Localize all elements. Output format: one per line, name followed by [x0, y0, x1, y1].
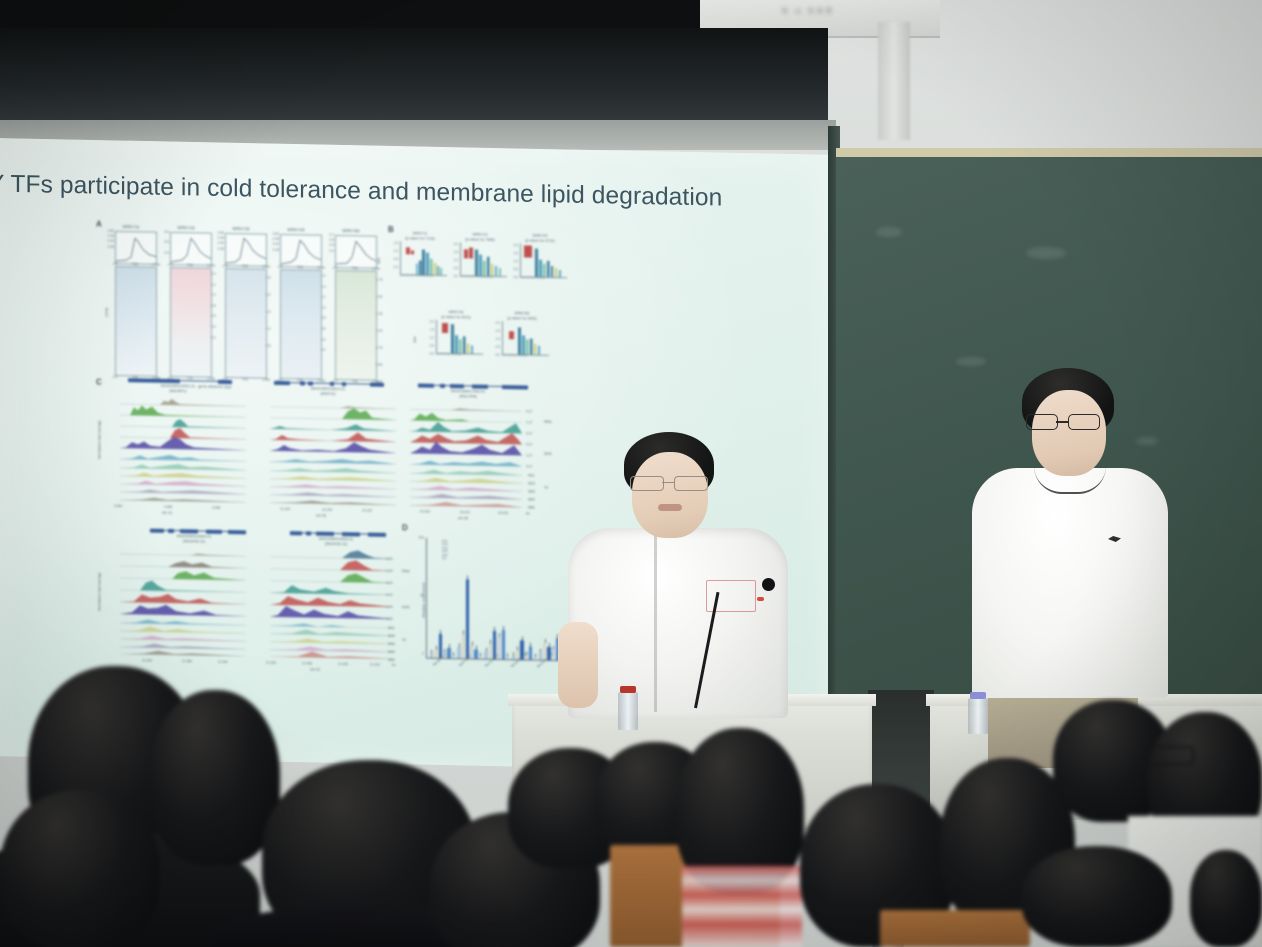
locus-4-xtick-3: 21.610: [370, 663, 380, 667]
track-label-tf-2: W33: [528, 490, 535, 494]
bar-W60-MsGDSL12-P4: [529, 646, 532, 659]
locus-3-xtick-0: 21.540: [142, 658, 152, 662]
errorbar: [517, 647, 518, 651]
presenter-glasses: [1026, 414, 1100, 428]
audience-glasses: [1148, 746, 1194, 765]
locus-0-xtick-2: 4.668: [212, 506, 220, 510]
panel-a-heatmap-1: [170, 267, 212, 378]
locus-0-chrom: chr 10: [162, 511, 172, 515]
motif-xticks-0: 1 2 3 4 5 6 7 8 9 10 11 12: [400, 274, 433, 278]
panel-a: WRKY11 0.500.450.400.35 -2.0TSS2.0kb -2.…: [106, 224, 378, 379]
audience-head-3: [0, 790, 160, 947]
errorbar: [476, 646, 477, 650]
motif-logo-1: WRKY19(p-value=1e-7684) 2.01.51.00.50.0 …: [452, 232, 508, 283]
motif-plot-4: [502, 321, 549, 356]
panel-b: WRKY11(p-value=1e-7133) 1.51.00.50.0 1 2…: [388, 229, 574, 384]
speaker-shirt-placket: [654, 532, 657, 712]
room-sign: 松 山 实验室: [748, 6, 868, 28]
microphone-led: [757, 597, 764, 601]
motif-title-1: WRKY19(p-value=1e-7684): [452, 232, 508, 242]
track-label-dhs-1: 1 LT: [526, 453, 532, 457]
errorbar: [490, 640, 491, 644]
errorbar: [453, 652, 454, 656]
errorbar: [486, 648, 487, 652]
person-second-presenter: [960, 368, 1180, 768]
bar-IgG-MsCBF1-P1: [452, 656, 455, 658]
motif-logo-2: WRKY33(p-value=1e-9722) 2.01.51.00.50.0 …: [512, 233, 568, 284]
bar-W33-MsPLD-P2: [466, 580, 469, 659]
locus-3-xtick-2: 21.561: [218, 660, 228, 664]
locus-3-xtick-1: 21.560: [182, 659, 192, 663]
motif-yticks-1: 2.01.51.00.50.0: [446, 240, 458, 281]
track-label-dhs-2: 3 LT: [526, 464, 532, 468]
bar-W11-MsCBF1-P1: [430, 653, 433, 657]
motif-yticks-4: 2.01.51.00.50.0: [488, 319, 500, 360]
panel-a-yticks-1: 0.60.50.4: [153, 230, 169, 256]
errorbar: [459, 643, 460, 647]
bar-W11-MsLOX6-P3: [484, 652, 487, 659]
bar-W19-MsCBF1-P1: [434, 650, 437, 658]
ceiling-shadow-strip: [0, 0, 700, 28]
panel-a-column-4: WRKY60 0.70.60.50.4 -2.0TSS2.0kb 1.751.5…: [326, 228, 376, 229]
errorbar: [540, 649, 541, 653]
speaker-head: [632, 452, 708, 538]
bar-W60-MsCBF1-P1: [447, 648, 450, 658]
panel-a-profile-0: [115, 231, 157, 265]
errorbar: [440, 630, 441, 634]
panel-c-locus-3: MsG0280012600.01(MsGDSL12): [108, 528, 248, 671]
person-speaker-at-podium: [558, 432, 808, 712]
panel-b-ylabel-2: Bits: [413, 336, 417, 342]
track-area-0: [120, 394, 246, 504]
errorbar: [545, 638, 546, 642]
errorbar: [530, 642, 531, 646]
panel-c-locus-1: MsG0180013610.01(MsPLD): [258, 381, 398, 520]
motif-plot-2: [520, 243, 567, 278]
track-label-b-tf-3: W40: [388, 650, 395, 654]
errorbar: [472, 641, 473, 645]
track-label-b-rna-1: 1 LT: [386, 569, 392, 573]
errorbar: [449, 644, 450, 648]
panel-a-ylabel: CPM: [104, 308, 109, 317]
locus-2-unit: kb: [526, 511, 529, 515]
errorbar: [467, 576, 468, 580]
seat-back-2: [880, 910, 1030, 947]
panel-a-column-3: WRKY40 0.500.450.400.35 -2.0TSS2.0kb 1.0…: [271, 227, 321, 228]
track-area-1: [270, 397, 396, 507]
locus-1-xtick-1: 10.230: [322, 508, 332, 512]
panel-a-heatmap-3: [280, 269, 322, 380]
locus-4-xtick-1: 21.606: [302, 661, 312, 665]
track-label-b-dhs-1: 1 LT: [386, 605, 392, 609]
locus-1-chrom: chr 05: [316, 514, 326, 518]
locus-4-xtick-0: 21.600: [266, 661, 276, 665]
slide-figure: A WRKY11 0.500.450.400.35 -2.0TSS2.0kb -…: [96, 218, 576, 717]
panel-c-locus-4: MsG0280013000.01(MsGDSL13): [258, 531, 408, 674]
motif-title-4: WRKY60(p-value=1e-4500): [494, 311, 550, 321]
locus-2-xtick-0: 29.400: [420, 510, 430, 514]
track-label-rna-1: 1 LT: [526, 420, 532, 424]
motif-logo-4: WRKY60(p-value=1e-4500) 2.01.51.00.50.0 …: [494, 311, 550, 362]
motif-xticks-2: 1 2 3 4 5 6 7 8 9 10: [520, 276, 545, 279]
audience-head-2: [150, 690, 280, 865]
motif-title-3: WRKY40(p-value=1e-9221): [428, 310, 484, 320]
motif-xticks-1: 1 2 3 4 5 6 7 8 9 10 11 12: [460, 275, 493, 279]
track-label-b-rna-2: 3 LT: [386, 581, 392, 585]
locus-1-xtick-0: 10.220: [280, 507, 290, 511]
bar-IgG-MsLOX6-P3: [506, 657, 509, 659]
audience-striped-shirt: [682, 866, 802, 947]
track-group-tf: TF: [544, 486, 548, 490]
panel-a-label: A: [96, 220, 102, 229]
panel-d: Relative enrichment 100 50 0 W11W19 W33W…: [402, 523, 572, 706]
errorbar: [463, 630, 464, 634]
bar-W11-MsGDSL12-P4: [512, 656, 515, 659]
track-label-rna-2: 3 LT: [526, 431, 532, 435]
errorbar: [431, 649, 432, 653]
track-label-b-tf-2: W33: [388, 642, 395, 646]
panel-c-locus-0: MsG0180014091.01(MsCBF1): [108, 378, 248, 517]
locus-2-chrom: chr 06: [458, 516, 468, 520]
errorbar: [494, 627, 495, 631]
gene-title-4: MsG0280013000.01(MsGDSL13): [276, 536, 396, 547]
motif-yticks-3: 2.01.51.00.50.0: [422, 318, 434, 359]
errorbar: [513, 652, 514, 656]
presenter-head: [1032, 390, 1106, 476]
microphone-head: [762, 578, 775, 591]
bar-W11-MsPLD-P2: [457, 647, 460, 658]
track-area-2: [410, 399, 522, 509]
locus-4-xtick-2: 21.609: [338, 662, 348, 666]
bar-IgG-MsGDSL12-P4: [533, 657, 536, 659]
errorbar: [553, 646, 554, 650]
panel-b-ylabel-1: Bits: [377, 258, 381, 264]
panel-a-yticks-0: 0.500.450.400.35: [98, 229, 114, 250]
panel-d-ytick-1: 50: [412, 593, 424, 597]
speaker-glasses: [630, 476, 710, 490]
bar-IgG-MsPLD-P2: [479, 656, 482, 658]
panel-c-ylabel-1: Normalized read coverage: [97, 572, 101, 611]
track-group-dhs: DHS: [544, 452, 552, 456]
panel-a-heatmap-0: [115, 266, 157, 377]
speaker-left-arm: [558, 622, 598, 708]
motif-logo-3: WRKY40(p-value=1e-9221) 2.01.51.00.50.0 …: [428, 310, 484, 361]
panel-a-profile-1: [170, 232, 212, 266]
errorbar: [522, 637, 523, 641]
track-label-b-tf-4: W60: [388, 658, 395, 662]
track-label-tf-4: W60: [528, 506, 535, 510]
panel-c-locus-2: MsG0180017300.01(MsLOX6): [408, 383, 558, 522]
errorbar: [549, 643, 550, 647]
locus-1-xtick-2: 10.232: [362, 508, 372, 512]
locus-0-xtick-1: 4.666: [164, 505, 172, 509]
motif-yticks-0: 1.51.00.50.0: [386, 239, 398, 272]
panel-a-heatmap-2: [225, 268, 267, 379]
panel-a-yticks-3: 0.500.450.400.35: [263, 232, 279, 253]
locus-2-xtick-1: 29.401: [460, 510, 470, 514]
panel-a-profile-4: [335, 235, 377, 269]
locus-4-chrom: chr 02: [310, 668, 320, 672]
track-label-b-tf-0: W11: [388, 626, 395, 630]
errorbar: [503, 626, 504, 630]
audience-head-14: [1190, 850, 1262, 947]
motif-yticks-2: 2.01.51.00.50.0: [506, 241, 518, 282]
locus-2-xtick-2: 29.409: [498, 511, 508, 515]
panel-a-yticks-2: 0.500.450.400.35: [208, 231, 224, 252]
water-bottle-podium: [618, 692, 638, 730]
motif-title-2: WRKY33(p-value=1e-9722): [512, 233, 568, 243]
gene-title-3: MsG0280012600.01(MsGDSL12): [134, 533, 254, 544]
locus-0-xtick-0: 4.664: [114, 504, 122, 508]
track-label-tf-3: W40: [528, 498, 535, 502]
panel-d-ytick-2: 0: [412, 651, 424, 655]
gene-title-0: MsG0180014091.01(MsCBF1): [108, 383, 248, 395]
track-area-3: [120, 544, 246, 656]
track-label-b-dhs-0: 0 LT: [386, 593, 392, 597]
track-group-rna: RNA: [544, 420, 552, 424]
motif-plot-0: [400, 241, 447, 276]
bar-W60-MsPLD-P2: [474, 650, 477, 659]
locus-4-unit: kb: [392, 663, 395, 667]
track-label-tf-0: W11: [528, 474, 535, 478]
speaker-shirt: [568, 528, 788, 718]
errorbar: [507, 653, 508, 657]
audience-head-13: [1022, 846, 1172, 947]
panel-a-heatmap-4: [335, 270, 377, 381]
track-label-b-dhs-2: 3 LT: [386, 617, 392, 621]
panel-a-yticks-4: 0.70.60.50.4: [318, 233, 334, 254]
presenter-polo: [972, 468, 1168, 698]
track-label-tf-1: W19: [528, 482, 535, 486]
panel-a-column-1: WRKY19 0.60.50.4 -2.0TSS2.0kb 1.41.21.00…: [161, 225, 211, 226]
errorbar: [535, 653, 536, 657]
gene-title-2: MsG0180017300.01(MsLOX6): [408, 388, 528, 399]
gene-title-1: MsG0180013610.01(MsPLD): [258, 386, 398, 398]
motif-logo-0: WRKY11(p-value=1e-7133) 1.51.00.50.0 1 2…: [392, 231, 448, 282]
track-area-4: [270, 547, 394, 659]
speaker-mouth: [658, 504, 682, 511]
motif-plot-3: [436, 320, 483, 355]
water-bottle-desk: [968, 698, 988, 734]
panel-a-profile-3: [280, 234, 322, 268]
panel-c-label: C: [96, 378, 102, 387]
panel-a-column-0: WRKY11 0.500.450.400.35 -2.0TSS2.0kb -2.…: [106, 224, 156, 225]
bar-W19-MsPLD-P2: [462, 634, 465, 658]
errorbar: [480, 652, 481, 656]
motif-plot-1: [460, 242, 507, 277]
track-label-b-rna-0: 0 LT: [386, 557, 392, 561]
wall-pillar: [878, 22, 910, 140]
motif-title-0: WRKY11(p-value=1e-7133): [392, 231, 448, 241]
bar-W60-MsLOX6-P3: [502, 630, 505, 660]
panel-a-column-2: WRKY33 0.500.450.400.35 -2.0TSS2.0kb 2.5…: [216, 226, 266, 227]
errorbar: [499, 633, 500, 637]
lecture-hall-photo: 松 山 实验室 Y TFs participate in cold tolera…: [0, 0, 1262, 947]
panel-c-ylabel-0: Normalized read coverage: [97, 420, 101, 459]
panel-d-plot-area: [426, 538, 563, 662]
track-label-dhs-0: 0 LT: [526, 442, 532, 446]
track-label-rna-0: 0 LT: [526, 409, 532, 413]
track-label-b-tf-1: W19: [388, 634, 395, 638]
errorbar: [436, 646, 437, 650]
motif-xticks-4: 1 2 3 4 5 6 7 8 9 10: [502, 354, 527, 357]
motif-xticks-3: 1 2 3 4 5 6 7 8 9 10: [436, 353, 461, 356]
panel-a-profile-2: [225, 233, 267, 267]
panel-d-ytick-0: 100: [412, 535, 424, 539]
